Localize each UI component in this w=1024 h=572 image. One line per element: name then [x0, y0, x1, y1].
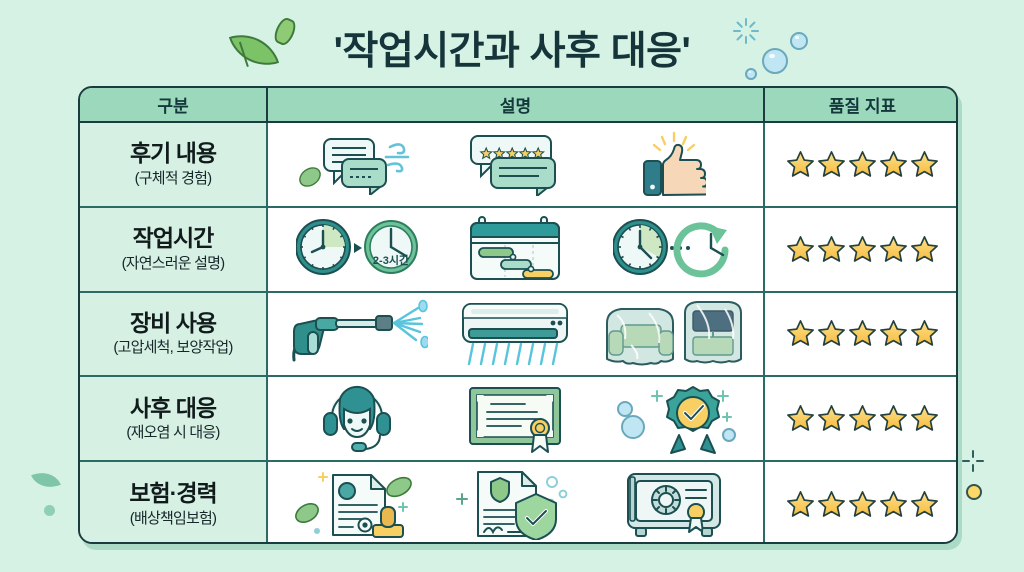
dot-decoration [44, 505, 55, 516]
header-category: 구분 [80, 88, 267, 122]
category-title: 보험·경력 [84, 480, 262, 506]
chat-bubbles-wind-icon [278, 123, 436, 206]
star-icon [786, 319, 815, 348]
star-icon [786, 235, 815, 264]
description-cell [267, 461, 764, 544]
clock-refresh-icon [595, 208, 753, 291]
table-row: 작업시간(자연스러운 설명)2-3시간 [80, 207, 958, 292]
star-rating [765, 377, 958, 460]
certificate-icon [436, 377, 594, 460]
star-rated-review-icon [436, 123, 594, 206]
safe-vault-icon [595, 462, 753, 544]
star-rating [765, 123, 958, 206]
icon-row [278, 293, 753, 376]
star-icon [879, 404, 908, 433]
star-icon [786, 490, 815, 519]
pressure-washer-icon [278, 293, 436, 376]
star-icon [848, 490, 877, 519]
star-icon [879, 150, 908, 179]
star-icon [786, 150, 815, 179]
category-subtitle: (구체적 경험) [84, 169, 262, 189]
category-cell: 사후 대응(재오염 시 대응) [80, 376, 267, 461]
category-subtitle: (자연스러운 설명) [84, 254, 262, 274]
category-title: 후기 내용 [84, 140, 262, 166]
category-cell: 보험·경력(배상책임보험) [80, 461, 267, 544]
icon-row [278, 123, 753, 206]
description-cell [267, 292, 764, 377]
table-body: 후기 내용(구체적 경험)작업시간(자연스러운 설명)2-3시간장비 사용(고압… [80, 122, 958, 544]
quality-cell [764, 207, 958, 292]
star-icon [817, 404, 846, 433]
category-subtitle: (배상책임보험) [84, 509, 262, 529]
shield-document-icon [436, 462, 594, 544]
quality-cell [764, 122, 958, 207]
star-icon [848, 235, 877, 264]
star-icon [848, 319, 877, 348]
leaf-icon [31, 466, 61, 494]
star-icon [910, 319, 939, 348]
category-cell: 후기 내용(구체적 경험) [80, 122, 267, 207]
star-icon [786, 404, 815, 433]
table-row: 사후 대응(재오염 시 대응) [80, 376, 958, 461]
table-row: 후기 내용(구체적 경험) [80, 122, 958, 207]
star-rating [765, 208, 958, 291]
clock-duration-icon: 2-3시간 [278, 208, 436, 291]
star-icon [879, 235, 908, 264]
category-title: 사후 대응 [84, 395, 262, 421]
quality-table: 구분 설명 품질 지표 후기 내용(구체적 경험)작업시간(자연스러운 설명)2… [78, 86, 958, 544]
svg-text:2-3시간: 2-3시간 [373, 253, 409, 267]
star-rating [765, 293, 958, 376]
sparkle-cross-icon [962, 450, 984, 472]
category-title: 작업시간 [84, 225, 262, 251]
quality-cell [764, 292, 958, 377]
star-icon [817, 235, 846, 264]
header-quality: 품질 지표 [764, 88, 958, 122]
icon-row: 2-3시간 [278, 208, 753, 291]
star-icon [817, 490, 846, 519]
star-icon [817, 319, 846, 348]
star-icon [848, 150, 877, 179]
stamped-document-icon [278, 462, 436, 544]
headset-agent-icon [278, 377, 436, 460]
thumbs-up-icon [595, 123, 753, 206]
description-cell [267, 376, 764, 461]
icon-row [278, 462, 753, 544]
covered-furniture-icon [595, 293, 753, 376]
category-cell: 장비 사용(고압세척, 보양작업) [80, 292, 267, 377]
icon-row [278, 377, 753, 460]
star-icon [910, 404, 939, 433]
gantt-calendar-icon [436, 208, 594, 291]
description-cell [267, 122, 764, 207]
page-title: '작업시간과 사후 대응' [0, 20, 1024, 76]
table-row: 보험·경력(배상책임보험) [80, 461, 958, 544]
category-subtitle: (고압세척, 보양작업) [84, 338, 262, 358]
star-icon [910, 490, 939, 519]
quality-cell [764, 376, 958, 461]
star-icon [879, 490, 908, 519]
star-icon [910, 235, 939, 264]
header-description: 설명 [267, 88, 764, 122]
table-row: 장비 사용(고압세척, 보양작업) [80, 292, 958, 377]
star-rating [765, 462, 958, 544]
category-cell: 작업시간(자연스러운 설명) [80, 207, 267, 292]
award-check-icon [595, 377, 753, 460]
dot-decoration [966, 484, 982, 500]
table-header-row: 구분 설명 품질 지표 [80, 88, 958, 122]
star-icon [879, 319, 908, 348]
description-cell: 2-3시간 [267, 207, 764, 292]
category-subtitle: (재오염 시 대응) [84, 423, 262, 443]
star-icon [817, 150, 846, 179]
star-icon [910, 150, 939, 179]
star-icon [848, 404, 877, 433]
quality-cell [764, 461, 958, 544]
air-conditioner-icon [436, 293, 594, 376]
category-title: 장비 사용 [84, 310, 262, 336]
